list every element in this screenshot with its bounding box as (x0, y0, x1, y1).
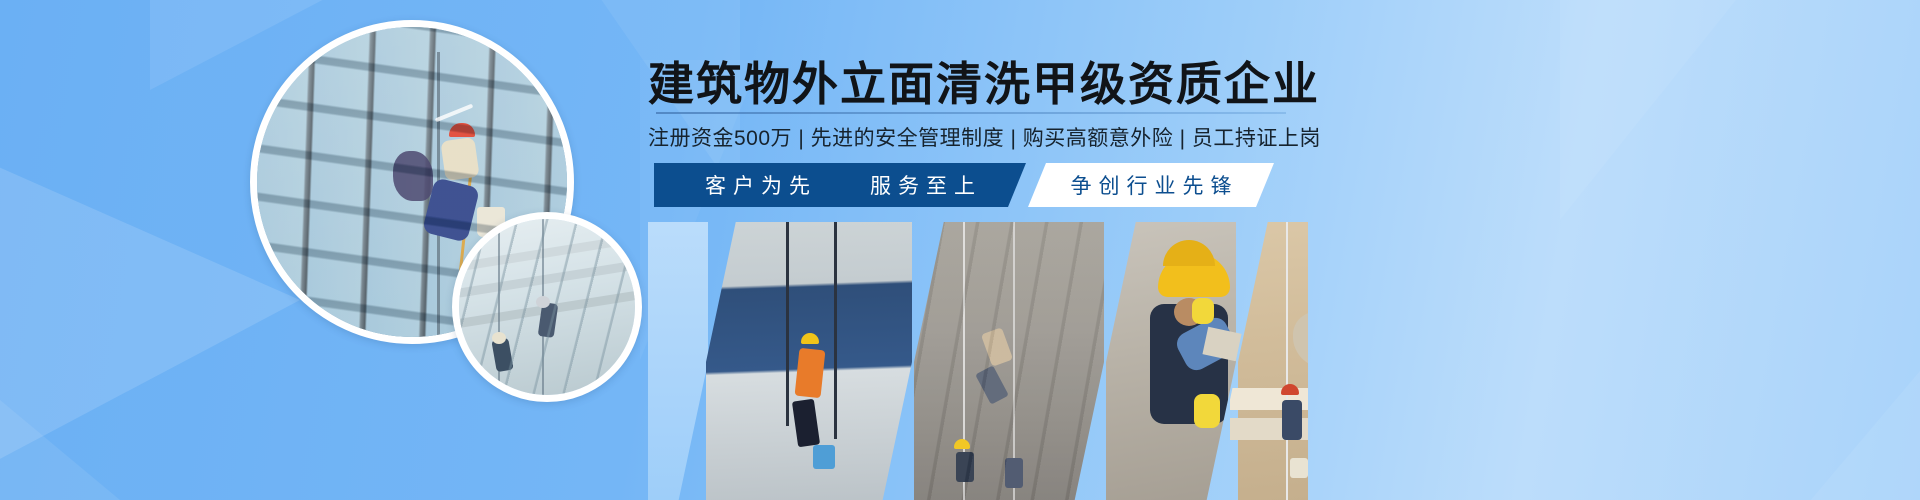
ribbon-white-segment: 争创行业先锋 (1028, 163, 1274, 207)
facade-worker-lower-head (492, 332, 506, 344)
rope-line-a (542, 219, 544, 395)
photo-worker-orange-vest (706, 222, 912, 500)
circle-photo-facade-workers (452, 212, 642, 402)
yellow-helmet-icon (954, 439, 970, 449)
rope-line-b (498, 219, 500, 395)
red-helmet-icon (449, 123, 475, 137)
water-spray (434, 103, 473, 122)
slogan-ribbon: 客户为先 服务至上 争创行业先锋 (654, 163, 1274, 207)
red-helmet-icon (1281, 384, 1299, 395)
yellow-glove-icon (1194, 394, 1220, 428)
slogan-industry-pioneer: 争创行业先锋 (1064, 170, 1239, 200)
slogan-service-supreme: 服务至上 (863, 170, 982, 200)
facade-worker-upper (538, 303, 559, 339)
photo-strip (648, 222, 1308, 500)
facade-worker-lower (492, 337, 514, 371)
facade-worker-upper-head (536, 296, 550, 308)
yellow-glove-icon (1192, 298, 1214, 324)
safety-line (437, 52, 440, 344)
page-subtitle: 注册资金500万 | 先进的安全管理制度 | 购买高额意外险 | 员工持证上岗 (648, 122, 1288, 152)
worker-torso (440, 136, 479, 180)
cleaning-reflection (393, 151, 433, 201)
yellow-helmet-icon (801, 333, 819, 344)
banner-content: 建筑物外立面清洗甲级资质企业 注册资金500万 | 先进的安全管理制度 | 购买… (648, 0, 1920, 500)
page-title: 建筑物外立面清洗甲级资质企业 (648, 48, 1288, 114)
photo-rappelling-concrete-wall (914, 222, 1104, 500)
background-triangle-3 (0, 300, 180, 500)
slogan-customer-first: 客户为先 (698, 170, 817, 200)
title-divider (656, 112, 1286, 114)
ribbon-blue-segment: 客户为先 服务至上 (654, 163, 1026, 207)
white-facade-image (459, 219, 635, 395)
promo-banner: 建筑物外立面清洗甲级资质企业 注册资金500万 | 先进的安全管理制度 | 购买… (0, 0, 1920, 500)
facade-beam (452, 229, 642, 274)
